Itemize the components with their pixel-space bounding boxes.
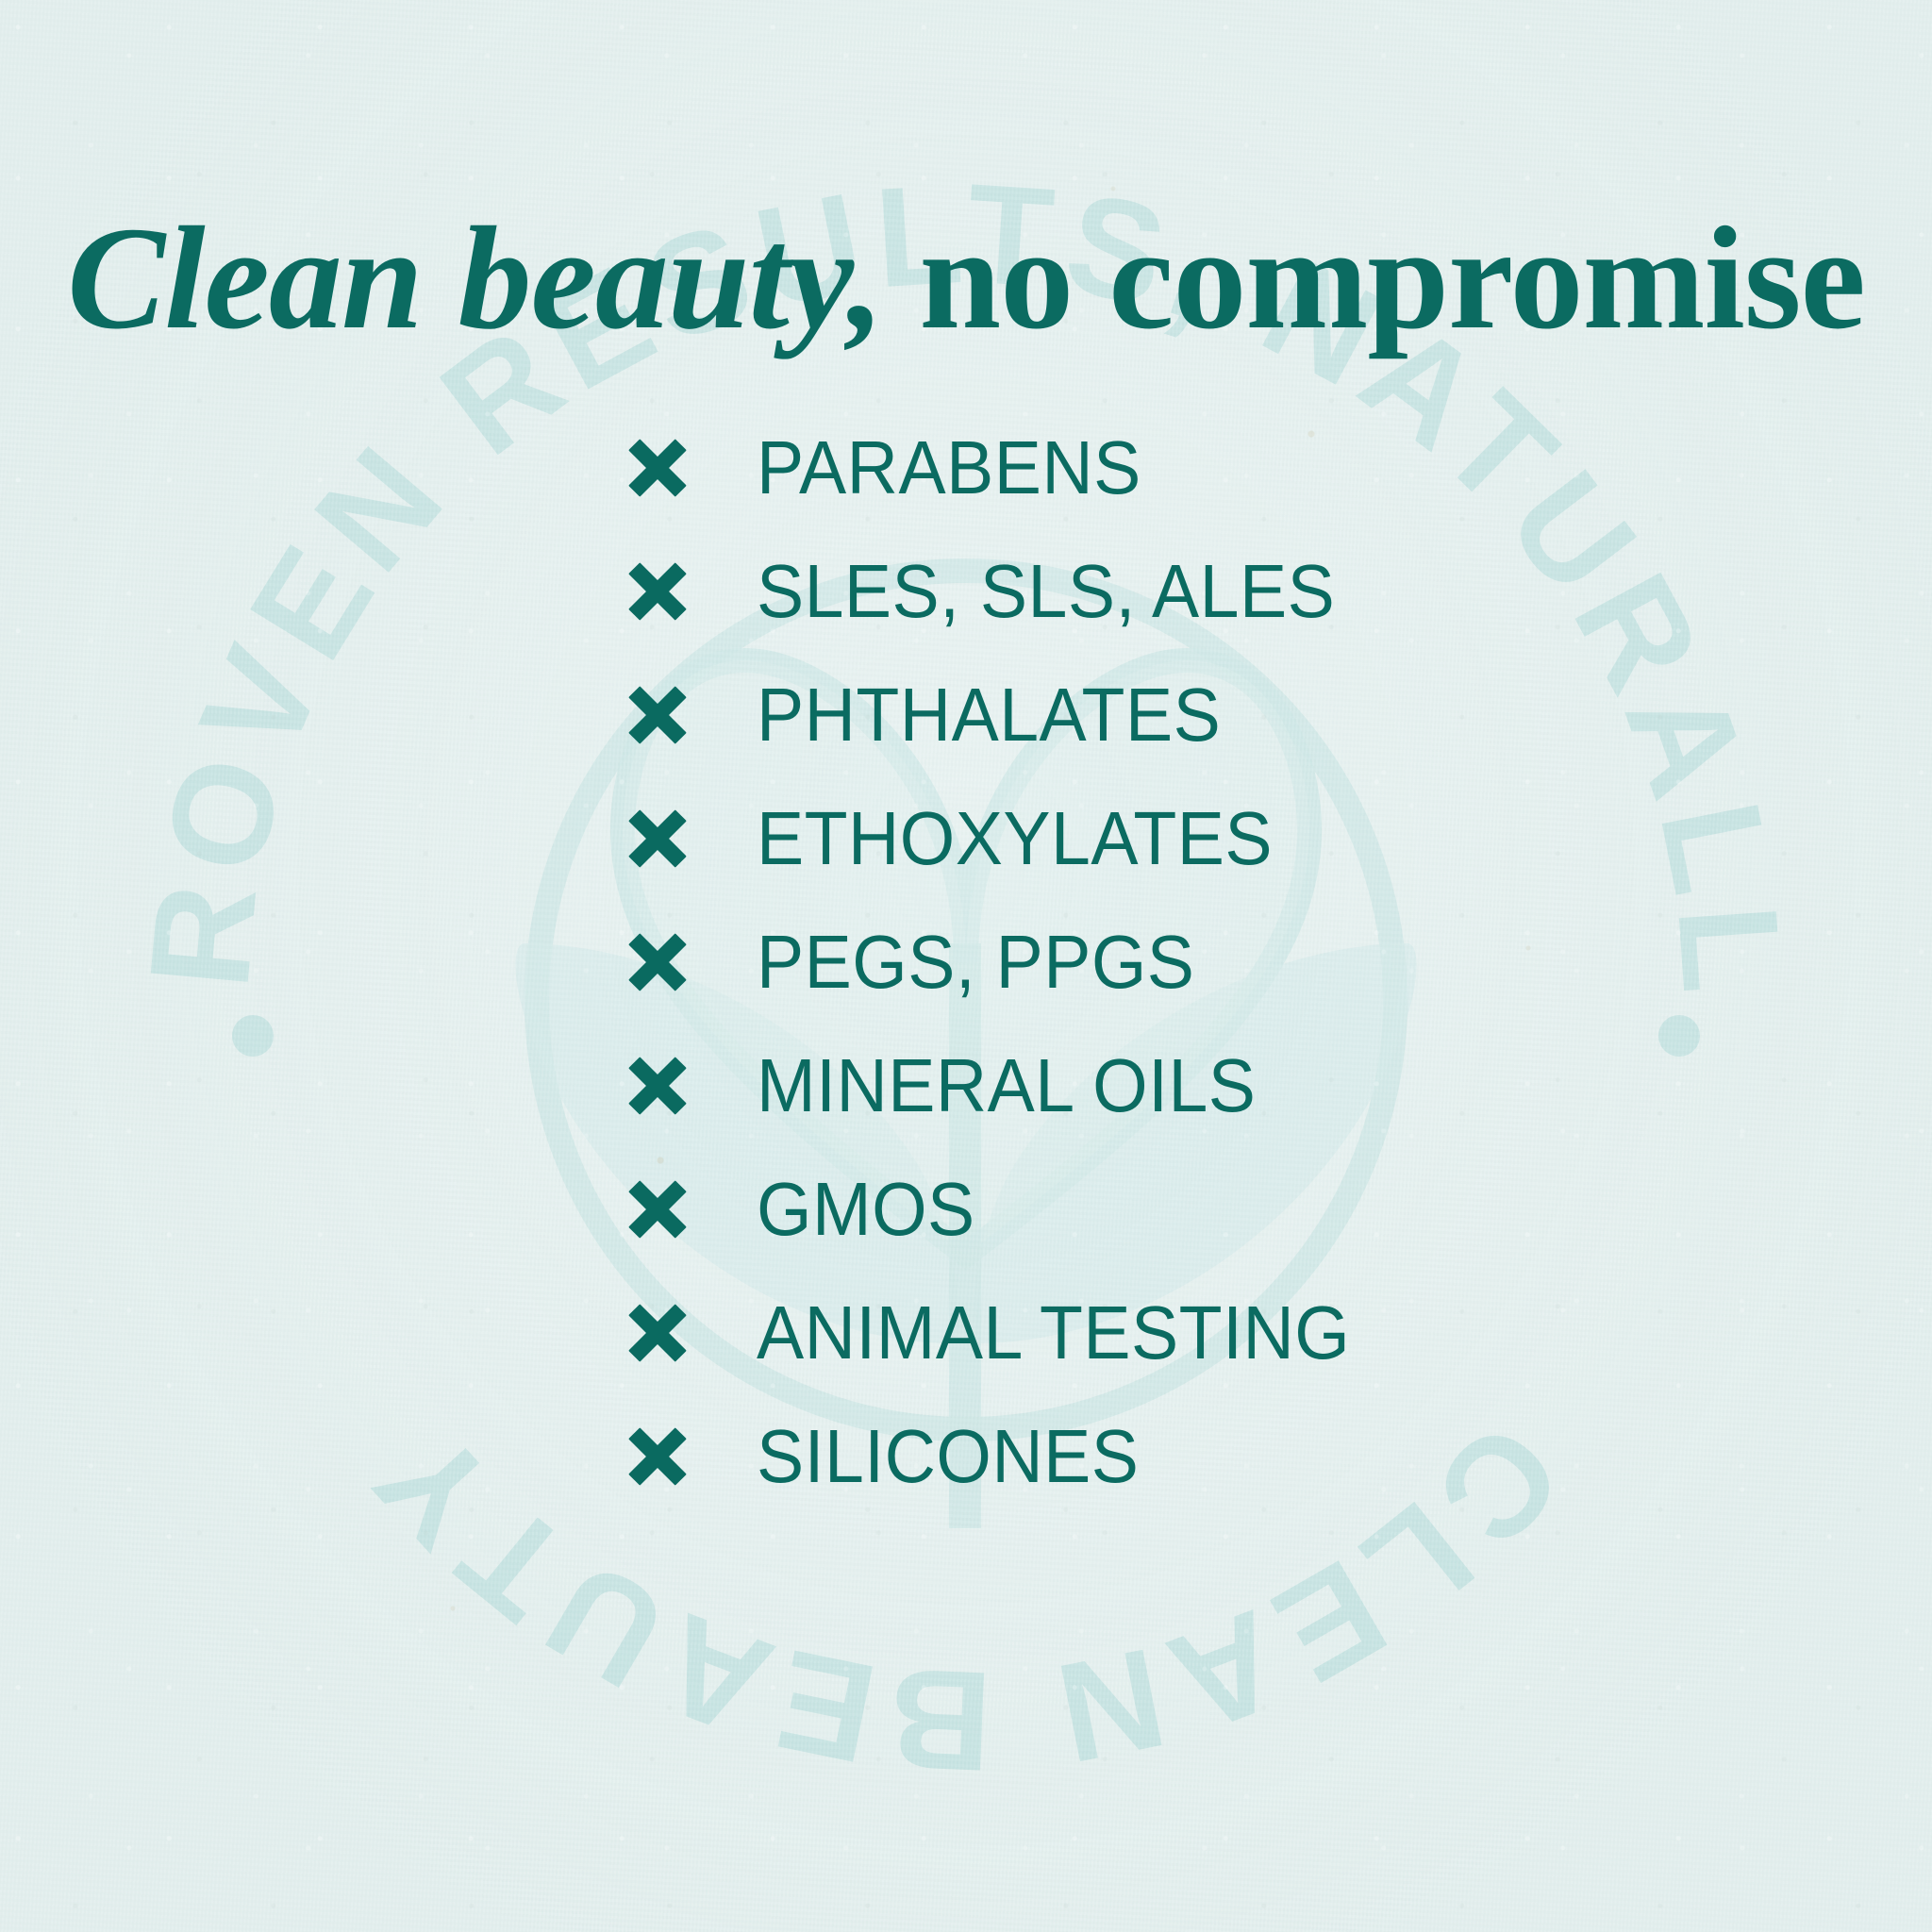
x-mark-icon [623,1051,692,1121]
list-item: PHTHALATES [623,653,1660,776]
list-item-label: MINERAL OILS [757,1048,1256,1124]
list-item: PARABENS [623,406,1660,529]
list-item: ETHOXYLATES [623,776,1660,900]
watermark-separator-dot-left [232,1015,274,1057]
x-mark-icon [623,1174,692,1244]
x-mark-icon [623,557,692,626]
x-mark-icon [623,1298,692,1368]
title-rest: no compromise [883,196,1864,359]
list-item-label: PARABENS [757,430,1141,506]
list-item-label: SILICONES [757,1419,1139,1494]
x-mark-icon [623,804,692,874]
list-item-label: SLES, SLS, ALES [757,554,1335,629]
list-item-label: PHTHALATES [757,677,1221,753]
x-mark-icon [623,680,692,750]
list-item: MINERAL OILS [623,1024,1660,1147]
x-mark-icon [623,1422,692,1491]
list-item: ANIMAL TESTING [623,1271,1660,1394]
list-item: SLES, SLS, ALES [623,529,1660,653]
list-item: SILICONES [623,1394,1660,1518]
title-emphasis: Clean beauty, [67,196,883,359]
page-title: Clean beauty, no compromise [0,205,1932,352]
list-item: PEGS, PPGS [623,900,1660,1024]
x-mark-icon [623,927,692,997]
list-item-label: GMOS [757,1172,975,1247]
list-item-label: ETHOXYLATES [757,801,1273,876]
exclusion-list: PARABENS SLES, SLS, ALES PHTHALATES ETHO… [623,406,1660,1518]
watermark-separator-dot-right [1658,1015,1700,1057]
list-item-label: PEGS, PPGS [757,924,1194,1000]
list-item: GMOS [623,1147,1660,1271]
list-item-label: ANIMAL TESTING [757,1295,1350,1371]
x-mark-icon [623,433,692,503]
